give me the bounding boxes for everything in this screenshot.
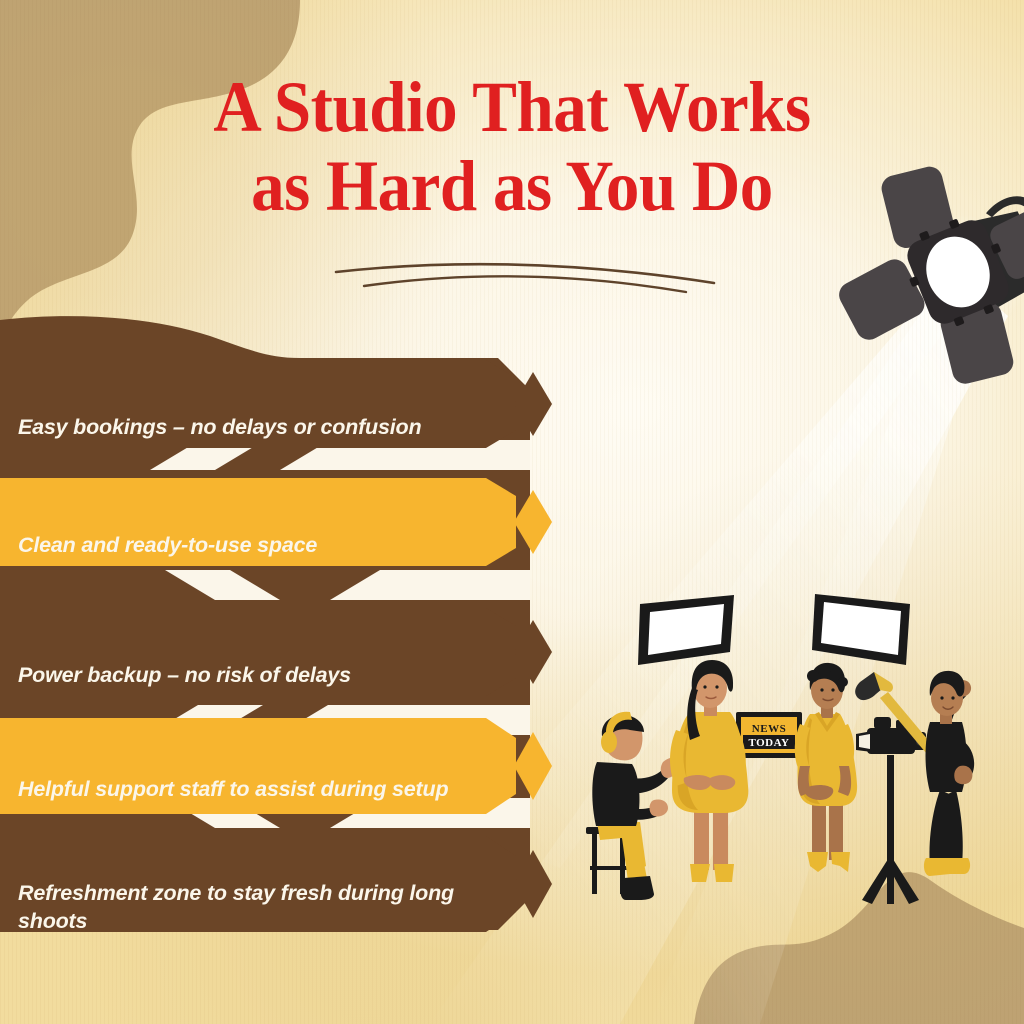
shoe [946, 858, 970, 874]
softbox-panel-left [638, 595, 734, 665]
softbox-panel-right [812, 594, 910, 665]
sign-line-news: NEWS [752, 723, 786, 735]
studio-sign: NEWS TODAY [736, 712, 802, 758]
woman-presenter-left [670, 660, 748, 882]
news-studio-illustration: NEWS TODAY [0, 0, 1024, 1024]
shoe [714, 864, 734, 882]
poster-root: A Studio That Works as Hard as You Do [0, 0, 1024, 1024]
boom-mic-operator [855, 671, 974, 876]
video-camera-on-tripod [856, 717, 926, 904]
shoe [831, 852, 850, 872]
shoe [620, 876, 654, 900]
seated-man-with-headphones [586, 712, 680, 900]
woman-presenter-right [795, 663, 857, 872]
shoe [807, 852, 828, 872]
sign-line-today: TODAY [748, 737, 789, 749]
hand [650, 799, 669, 816]
shoe [690, 864, 710, 882]
hand [954, 766, 972, 785]
